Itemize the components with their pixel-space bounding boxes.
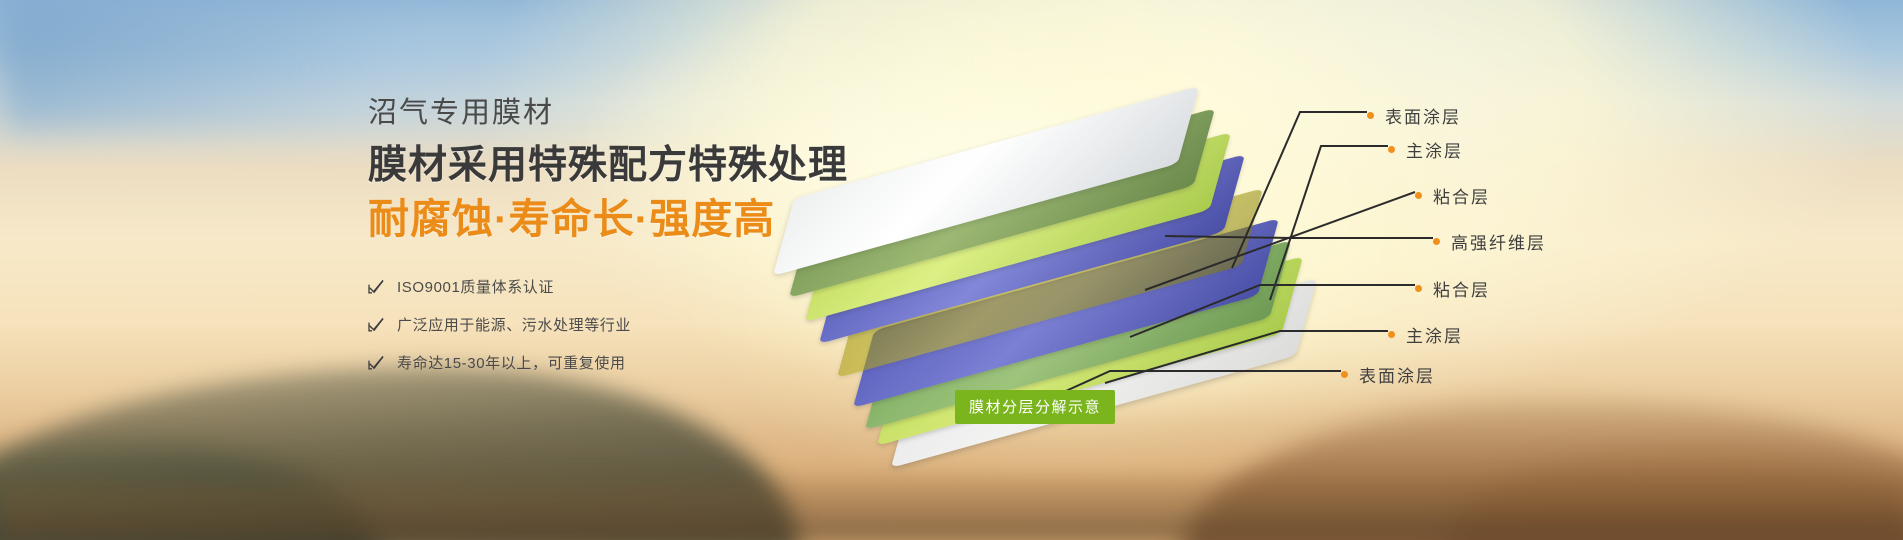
- callout-dot-icon: [1388, 331, 1395, 338]
- foreground-ground: [0, 470, 1903, 540]
- callout-dot-icon: [1341, 371, 1348, 378]
- promo-banner: 沼气专用膜材 膜材采用特殊配方特殊处理 耐腐蚀·寿命长·强度高 ISO9001质…: [0, 0, 1903, 540]
- callout-dot-icon: [1415, 285, 1422, 292]
- callout-main-coating-bottom: 主涂层: [1388, 322, 1463, 347]
- callout-dot-icon: [1433, 238, 1440, 245]
- callout-label: 主涂层: [1406, 322, 1463, 347]
- check-tick-icon: [368, 354, 385, 371]
- check-tick-icon: [368, 278, 385, 295]
- feature-label: 广泛应用于能源、污水处理等行业: [397, 314, 631, 335]
- callout-adhesive-top: 粘合层: [1415, 183, 1490, 208]
- callout-label: 高强纤维层: [1451, 229, 1546, 254]
- callout-dot-icon: [1388, 146, 1395, 153]
- callout-label: 粘合层: [1433, 276, 1490, 301]
- feature-label: ISO9001质量体系认证: [397, 276, 554, 297]
- callout-surface-coating-bottom: 表面涂层: [1341, 362, 1435, 387]
- callout-label: 粘合层: [1433, 183, 1490, 208]
- callout-surface-coating-top: 表面涂层: [1367, 103, 1461, 128]
- callout-adhesive-bottom: 粘合层: [1415, 276, 1490, 301]
- check-tick-icon: [368, 316, 385, 333]
- diagram-caption-badge: 膜材分层分解示意: [955, 390, 1115, 424]
- callout-main-coating-top: 主涂层: [1388, 137, 1463, 162]
- feature-label: 寿命达15-30年以上，可重复使用: [397, 352, 626, 373]
- callout-dot-icon: [1367, 112, 1374, 119]
- callout-high-strength-fiber: 高强纤维层: [1433, 229, 1546, 254]
- callout-dot-icon: [1415, 192, 1422, 199]
- callout-label: 表面涂层: [1359, 362, 1435, 387]
- callout-label: 主涂层: [1406, 137, 1463, 162]
- callout-label: 表面涂层: [1385, 103, 1461, 128]
